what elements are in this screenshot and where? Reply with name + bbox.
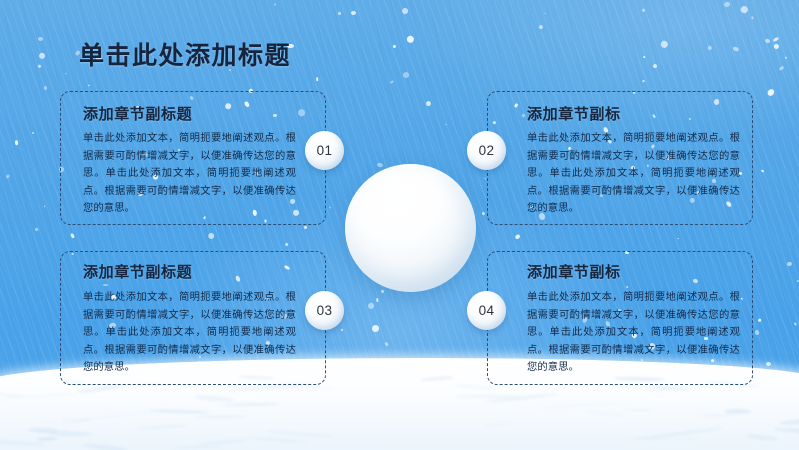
snow-streak — [224, 402, 278, 406]
snow-streak — [585, 409, 625, 417]
snow-streak — [420, 376, 454, 381]
snow-streak — [539, 402, 619, 410]
snow-streak — [277, 386, 337, 389]
snow-streak — [82, 442, 128, 450]
snow-streak — [622, 438, 698, 440]
section-badge-02[interactable]: 02 — [467, 131, 506, 170]
center-snowball-icon — [345, 164, 476, 292]
snow-streak — [195, 416, 247, 418]
snow-streak — [483, 422, 512, 428]
snow-streak — [266, 429, 334, 438]
snow-streak — [40, 421, 58, 424]
snow-streak — [699, 414, 734, 418]
snow-streak — [198, 439, 249, 446]
snow-streak — [173, 445, 224, 449]
section-badge-03[interactable]: 03 — [305, 291, 344, 330]
snow-streak — [746, 433, 778, 442]
presentation-slide: 单击此处添加标题 添加章节副标题 单击此处添加文本，简明扼要地阐述观点。根据需要… — [0, 0, 799, 450]
section-body-01: 单击此处添加文本，简明扼要地阐述观点。根据需要可酌情增减文字，以便准确传达您的意… — [83, 130, 296, 218]
section-badge-04[interactable]: 04 — [467, 291, 506, 330]
snow-streak — [194, 394, 234, 402]
snow-streak — [724, 409, 751, 414]
snow-streak — [74, 410, 152, 421]
snow-streak — [455, 384, 495, 390]
section-body-02: 单击此处添加文本，简明扼要地阐述观点。根据需要可酌情增减文字，以便准确传达您的意… — [527, 130, 740, 218]
section-heading-03: 添加章节副标题 — [83, 261, 192, 282]
snow-streak — [135, 423, 189, 431]
snow-streak — [48, 432, 93, 436]
snow-streak — [485, 392, 558, 404]
snow-streak — [150, 409, 209, 414]
section-badge-01[interactable]: 01 — [305, 131, 344, 170]
snow-streak — [773, 427, 799, 436]
snow-streak — [36, 436, 58, 441]
page-title: 单击此处添加标题 — [79, 36, 291, 72]
snow-streak — [779, 417, 799, 426]
snow-streak — [621, 408, 654, 412]
section-heading-04: 添加章节副标 — [527, 261, 621, 282]
section-body-04: 单击此处添加文本，简明扼要地阐述观点。根据需要可酌情增减文字，以便准确传达您的意… — [527, 289, 740, 377]
section-heading-02: 添加章节副标 — [527, 103, 621, 124]
section-body-03: 单击此处添加文本，简明扼要地阐述观点。根据需要可酌情增减文字，以便准确传达您的意… — [83, 289, 296, 377]
section-heading-01: 添加章节副标题 — [83, 103, 192, 124]
snow-streak — [249, 437, 307, 442]
snow-streak — [77, 384, 124, 394]
